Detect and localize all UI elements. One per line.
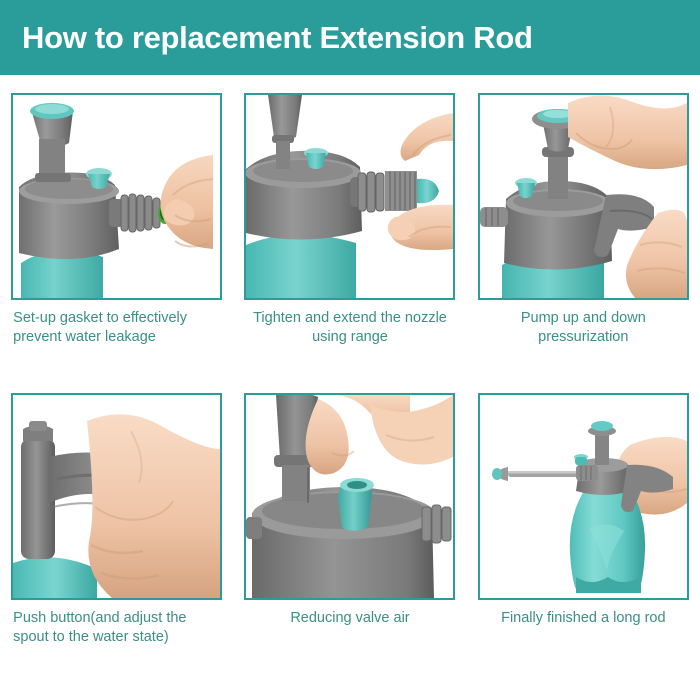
- page-title: How to replacement Extension Rod: [0, 20, 533, 56]
- instruction-graphic: How to replacement Extension Rod: [0, 0, 700, 700]
- header-banner: How to replacement Extension Rod: [0, 0, 700, 75]
- step-1-caption: Set-up gasket to effectively prevent wat…: [13, 309, 220, 346]
- step-4-push-trigger-button: [11, 393, 222, 600]
- step-card-5: Reducing valve air: [233, 393, 466, 646]
- step-3-pump-pressurize: [478, 93, 689, 300]
- step-card-2: Tighten and extend the nozzle using rang…: [233, 93, 466, 346]
- step-5-caption: Reducing valve air: [246, 609, 453, 628]
- step-3-caption: Pump up and down pressurization: [480, 309, 687, 346]
- step-6-finished-long-rod: [478, 393, 689, 600]
- step-card-4: Push button(and adjust the spout to the …: [0, 393, 233, 646]
- step-2-caption: Tighten and extend the nozzle using rang…: [246, 309, 453, 346]
- step-2-tighten-nozzle: [244, 93, 455, 300]
- step-card-1: Set-up gasket to effectively prevent wat…: [0, 93, 233, 346]
- steps-row-top: Set-up gasket to effectively prevent wat…: [0, 93, 700, 346]
- step-card-3: Pump up and down pressurization: [467, 93, 700, 346]
- step-6-caption: Finally finished a long rod: [480, 609, 687, 628]
- step-1-gasket-insertion: [11, 93, 222, 300]
- step-4-caption: Push button(and adjust the spout to the …: [13, 609, 220, 646]
- step-card-6: Finally finished a long rod: [467, 393, 700, 646]
- steps-row-bottom: Push button(and adjust the spout to the …: [0, 393, 700, 646]
- steps-grid: Set-up gasket to effectively prevent wat…: [0, 75, 700, 700]
- step-5-reducing-valve: [244, 393, 455, 600]
